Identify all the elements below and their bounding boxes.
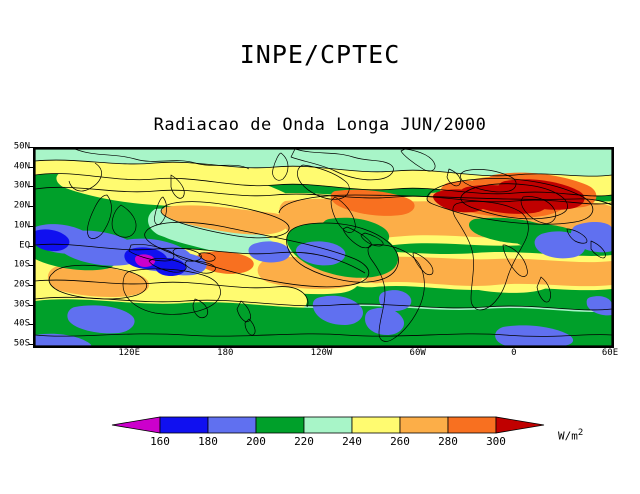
units-label: W/m2 [558,428,583,443]
x-tick-0: 0 [511,348,516,358]
y-tickmark [29,305,33,306]
y-axis-labels: 50N40N30N20N10NEQ10S20S30S40S50S [0,147,33,344]
y-tickmark [29,206,33,207]
colorbar-swatches [100,414,550,436]
y-tickmark [29,167,33,168]
colorbar-tick-220: 220 [294,436,314,448]
x-tick-180: 180 [217,348,233,358]
olr-contour-map [35,149,612,346]
units-exponent: 2 [578,428,583,438]
y-tickmark [29,344,33,345]
colorbar-tick-260: 260 [390,436,410,448]
y-tick-10s: 10S [14,261,30,270]
y-tickmark [29,265,33,266]
chart-title: Radiacao de Onda Longa JUN/2000 [0,115,640,135]
y-tickmark [29,226,33,227]
y-tick-20s: 20S [14,280,30,289]
y-tickmark [29,147,33,148]
x-tick-120e: 120E [118,348,140,358]
colorbar-tick-160: 160 [150,436,170,448]
y-tickmark [29,324,33,325]
x-axis-labels: 120E180120W60W060E [33,348,610,362]
x-tick-120w: 120W [311,348,333,358]
y-tickmark [29,285,33,286]
y-tickmark [29,186,33,187]
x-tick-60w: 60W [410,348,426,358]
y-tick-40s: 40S [14,320,30,329]
colorbar-tick-labels: 160180200220240260280300 [0,436,640,452]
contour-fill-group [35,149,612,346]
colorbar: 160180200220240260280300 [0,414,640,456]
colorbar-tick-240: 240 [342,436,362,448]
y-tickmark [29,246,33,247]
olr-map-plot [33,147,614,348]
y-tick-30s: 30S [14,300,30,309]
y-tick-50s: 50S [14,340,30,349]
colorbar-tick-180: 180 [198,436,218,448]
y-tick-20n: 20N [14,202,30,211]
colorbar-tick-280: 280 [438,436,458,448]
units-text: W/m [558,430,578,443]
y-tick-40n: 40N [14,162,30,171]
colorbar-tick-300: 300 [486,436,506,448]
y-tick-10n: 10N [14,221,30,230]
y-tick-50n: 50N [14,143,30,152]
colorbar-tick-200: 200 [246,436,266,448]
y-tick-30n: 30N [14,182,30,191]
x-tick-60e: 60E [602,348,618,358]
page-title: INPE/CPTEC [0,40,640,69]
figure-page: INPE/CPTEC Radiacao de Onda Longa JUN/20… [0,0,640,494]
